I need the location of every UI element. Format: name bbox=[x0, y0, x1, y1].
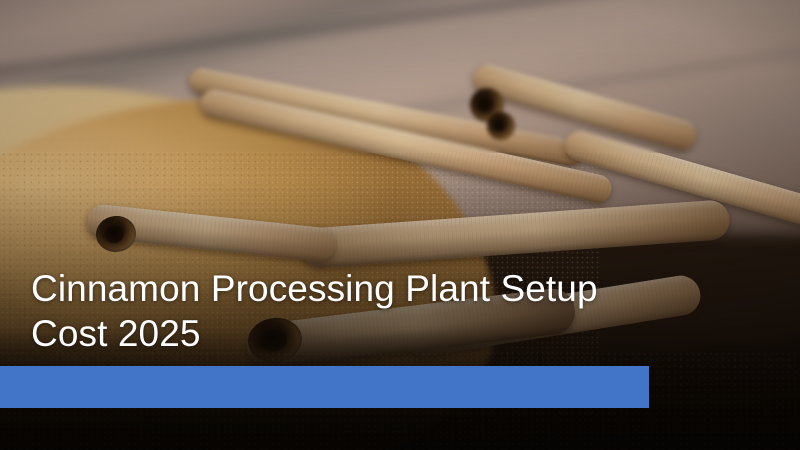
page-title: Cinnamon Processing Plant Setup Cost 202… bbox=[31, 266, 631, 356]
accent-bar bbox=[0, 366, 649, 408]
title-slide: Cinnamon Processing Plant Setup Cost 202… bbox=[0, 0, 800, 450]
